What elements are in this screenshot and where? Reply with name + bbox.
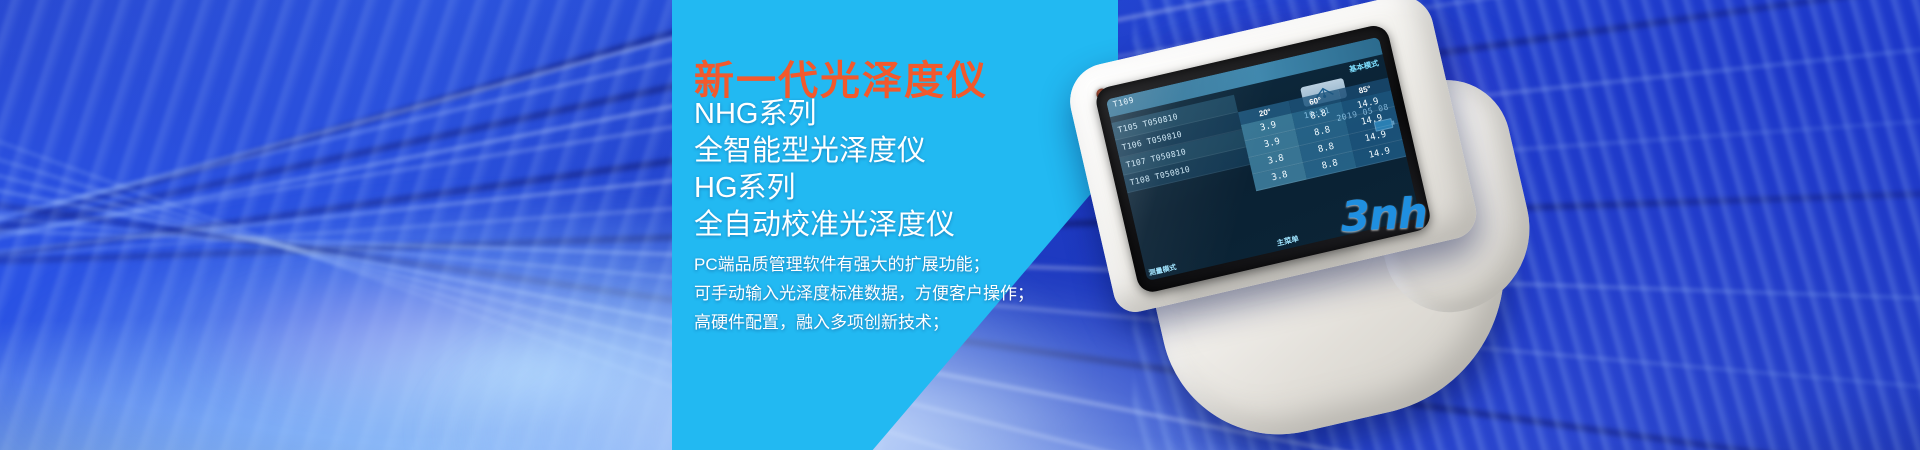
gloss-meter-device: T109 基本模式 10:51 2019 05 08 T105 T050810 [1046,0,1566,450]
screen-footer-left[interactable]: 测量模式 [1148,264,1177,278]
banner-root: 新一代光泽度仪 NHG系列 全智能型光泽度仪 HG系列 全自动校准光泽度仪 PC… [0,0,1920,450]
brand-logo: 3nh [1340,188,1428,241]
screen-footer-center[interactable]: 主菜单 [1276,233,1300,249]
